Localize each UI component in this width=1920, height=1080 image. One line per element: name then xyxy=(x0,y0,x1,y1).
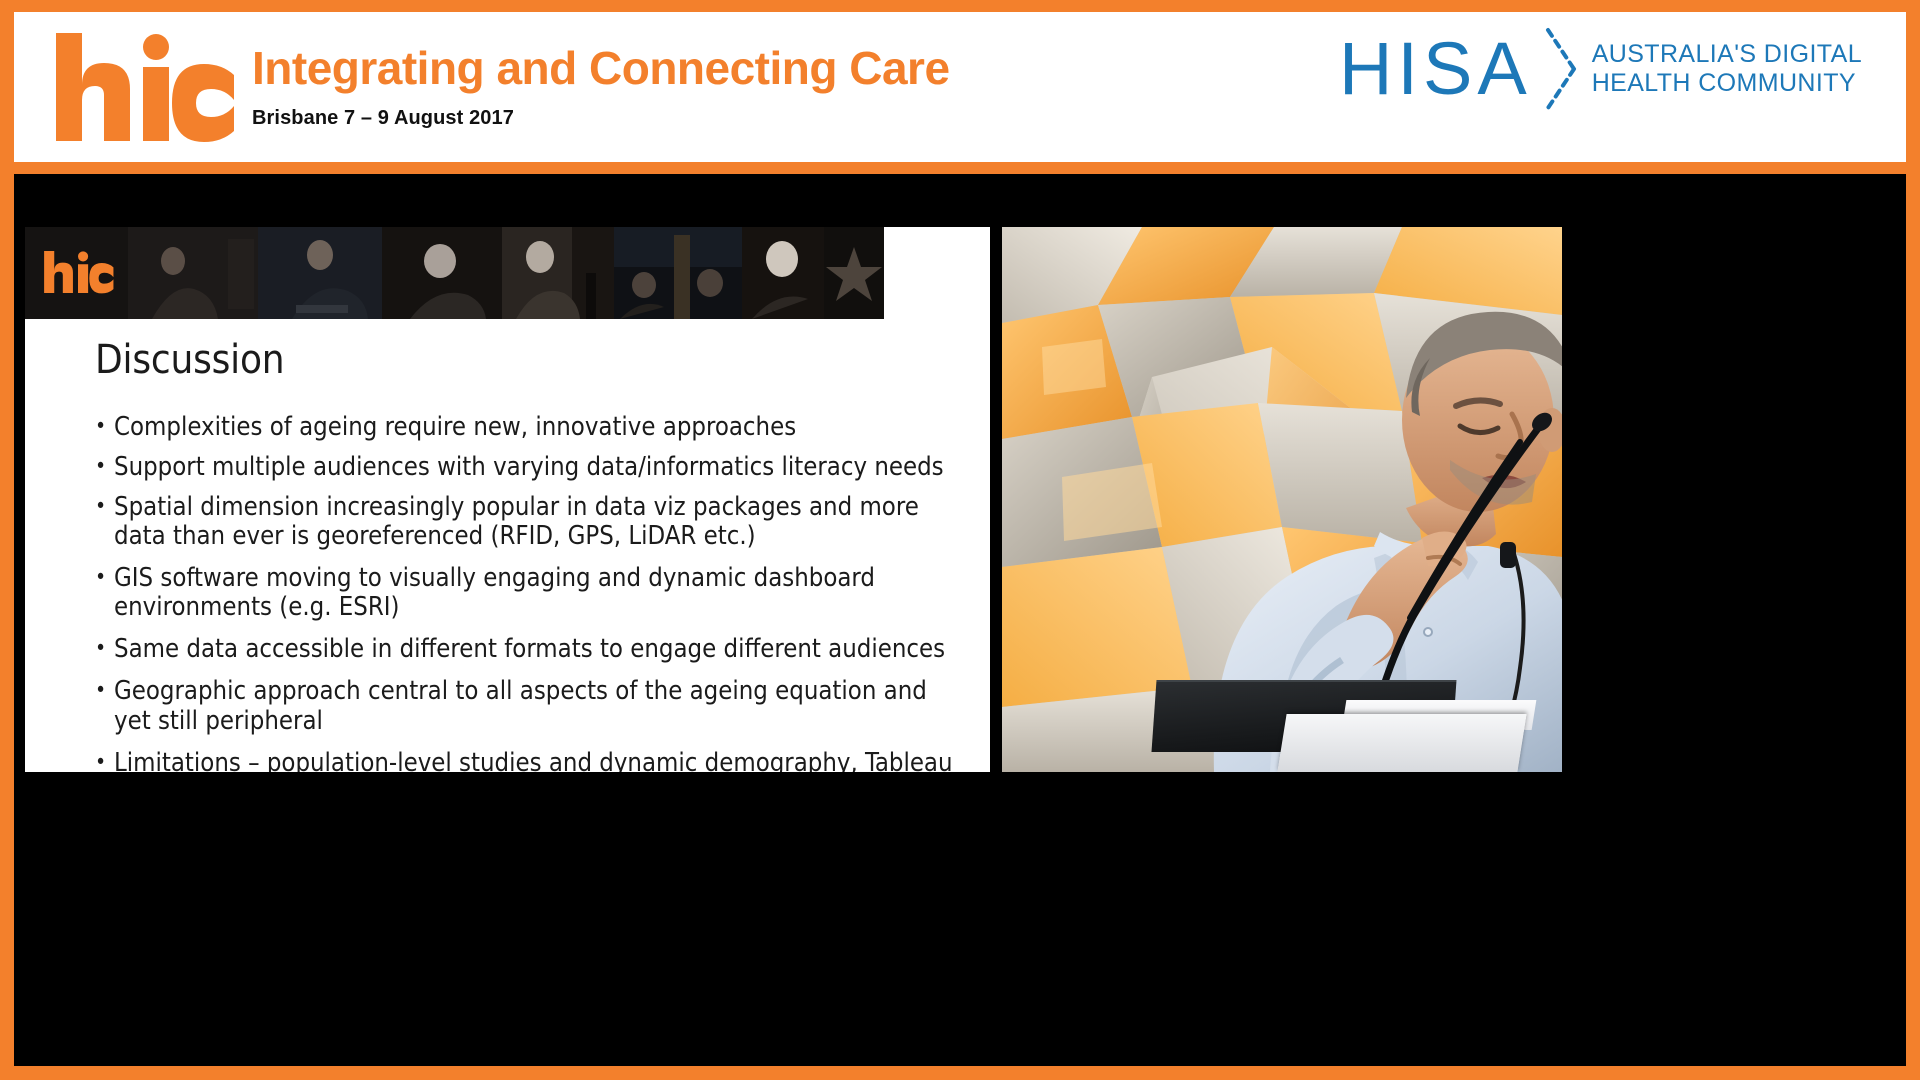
conference-header-banner: Integrating and Connecting Care Brisbane… xyxy=(14,12,1906,162)
bullet-marker-icon: • xyxy=(95,749,114,772)
banner-photo xyxy=(128,227,258,319)
lectern-notes xyxy=(1277,714,1526,772)
page-title: Integrating and Connecting Care xyxy=(252,44,950,92)
list-item-text: Geographic approach central to all aspec… xyxy=(114,677,963,735)
banner-photo xyxy=(614,227,742,319)
header-title-block: Integrating and Connecting Care Brisbane… xyxy=(252,44,950,129)
hic-logo xyxy=(48,27,238,147)
slide-banner-photostrip xyxy=(25,227,884,319)
banner-photo xyxy=(382,227,502,319)
list-item: • Limitations – population-level studies… xyxy=(95,749,963,772)
list-item-text: Limitations – population-level studies a… xyxy=(114,749,963,772)
dashed-chevron-icon xyxy=(1542,26,1582,112)
hisa-tagline-line-1: AUSTRALIA'S DIGITAL xyxy=(1592,40,1862,70)
presentation-slide: Discussion • Complexities of ageing requ… xyxy=(25,227,990,772)
slide-bullet-list: • Complexities of ageing require new, in… xyxy=(95,413,963,772)
speaker-video-feed xyxy=(1002,227,1562,772)
gooseneck-microphone-icon xyxy=(1314,412,1554,712)
list-item-text: GIS software moving to visually engaging… xyxy=(114,564,963,622)
bullet-marker-icon: • xyxy=(95,493,114,520)
banner-photo xyxy=(742,227,824,319)
list-item-text: Same data accessible in different format… xyxy=(114,635,963,664)
banner-photo xyxy=(502,227,614,319)
banner-logo-cell xyxy=(25,227,128,319)
hic-logo-small xyxy=(41,243,115,301)
list-item-text: Spatial dimension increasingly popular i… xyxy=(114,493,963,551)
hisa-tagline-line-2: HEALTH COMMUNITY xyxy=(1592,69,1862,99)
list-item-text: Complexities of ageing require new, inno… xyxy=(114,413,963,442)
list-item: • Same data accessible in different form… xyxy=(95,635,963,664)
lectern xyxy=(1154,680,1562,772)
list-item: • GIS software moving to visually engagi… xyxy=(95,564,963,622)
video-canvas: Discussion • Complexities of ageing requ… xyxy=(14,174,1906,1066)
hisa-wordmark: HISA xyxy=(1339,32,1532,106)
list-item: • Complexities of ageing require new, in… xyxy=(95,413,963,442)
list-item: • Support multiple audiences with varyin… xyxy=(95,453,963,482)
list-item: • Geographic approach central to all asp… xyxy=(95,677,963,735)
hisa-tagline: AUSTRALIA'S DIGITAL HEALTH COMMUNITY xyxy=(1592,40,1862,99)
presentation-stage: Integrating and Connecting Care Brisbane… xyxy=(0,0,1920,1080)
banner-photo xyxy=(824,227,884,319)
hisa-logo: HISA AUSTRALIA'S DIGITAL HEALTH COMMUNIT… xyxy=(1339,26,1862,112)
bullet-marker-icon: • xyxy=(95,453,114,480)
bullet-marker-icon: • xyxy=(95,635,114,662)
list-item: • Spatial dimension increasingly popular… xyxy=(95,493,963,551)
banner-photo xyxy=(258,227,382,319)
conference-dates: Brisbane 7 – 9 August 2017 xyxy=(252,107,950,130)
list-item-text: Support multiple audiences with varying … xyxy=(114,453,963,482)
bullet-marker-icon: • xyxy=(95,413,114,440)
slide-title: Discussion xyxy=(95,337,284,383)
bullet-marker-icon: • xyxy=(95,677,114,704)
bullet-marker-icon: • xyxy=(95,564,114,591)
